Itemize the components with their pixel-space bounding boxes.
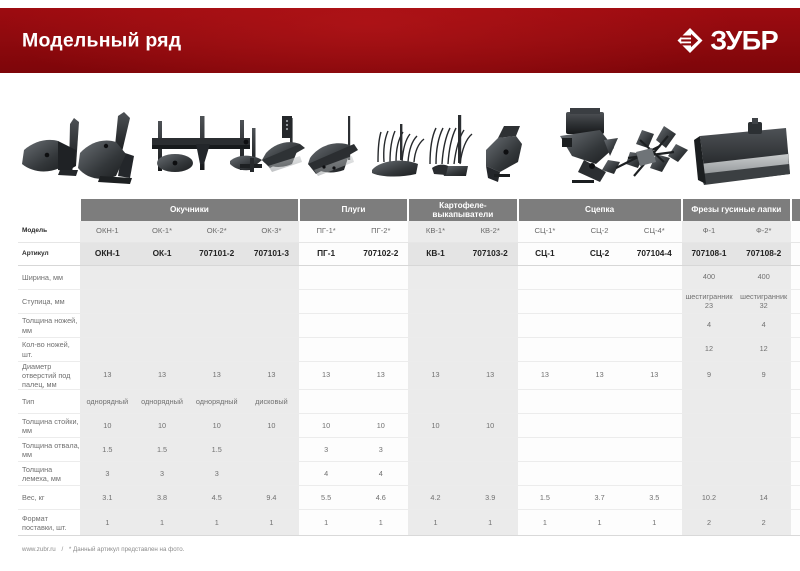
data-cell: 3 (135, 462, 190, 486)
photo-okuchnik-okn-1 (22, 118, 79, 176)
data-cell (408, 390, 463, 414)
data-cell (463, 462, 518, 486)
data-cell (791, 462, 800, 486)
data-cell (736, 462, 791, 486)
table-row: Толщина отвала, мм1.51.51.5332 (18, 438, 800, 462)
group-header-6: Лопата-отвал (791, 199, 800, 221)
data-cell: 1 (518, 510, 573, 536)
data-cell (627, 438, 682, 462)
row-label: Тип (18, 390, 80, 414)
data-cell: 13 (189, 362, 244, 390)
data-cell: 13 (627, 362, 682, 390)
data-cell: 9 (682, 362, 737, 390)
data-cell: 1 (408, 510, 463, 536)
table-row: Ступица, ммшестигранник 23шестигранник 3… (18, 290, 800, 314)
group-header-row: ОкучникиПлугиКартофеле-выкапывателиСцепк… (18, 199, 800, 221)
row-label: Ступица, мм (18, 290, 80, 314)
article-cell: СЦ-1 (518, 243, 573, 266)
data-cell (408, 462, 463, 486)
data-cell: однорядный (135, 390, 190, 414)
data-cell (572, 462, 627, 486)
data-cell: 5.5 (299, 486, 354, 510)
data-cell: 3.7 (572, 486, 627, 510)
data-cell (736, 414, 791, 438)
data-cell (135, 338, 190, 362)
model-cell: СЦ-2 (572, 221, 627, 243)
table-row: Кол-во ножей, шт.1212 (18, 338, 800, 362)
model-cell: КВ-2* (463, 221, 518, 243)
data-cell (518, 266, 573, 290)
group-header-1: Окучники (80, 199, 299, 221)
data-cell: 13 (572, 362, 627, 390)
data-cell: 13 (80, 362, 135, 390)
footer: www.zubr.ru / * Данный артикул представл… (22, 546, 184, 553)
data-cell (408, 314, 463, 338)
data-cell (189, 266, 244, 290)
article-row: Артикул ОКН-1ОК-1707101-2707101-3ПГ-1707… (18, 243, 800, 266)
data-cell (518, 338, 573, 362)
data-cell: 3.9 (463, 486, 518, 510)
data-cell: 1 (244, 510, 299, 536)
data-cell (189, 338, 244, 362)
data-cell (244, 314, 299, 338)
article-cell: 707108-1 (682, 243, 737, 266)
model-cell: ОКН-1 (80, 221, 135, 243)
data-cell (135, 290, 190, 314)
row-label-article: Артикул (18, 243, 80, 266)
spec-table-body: Ширина, мм4004001000Ступица, ммшестигран… (18, 266, 800, 536)
data-cell: 13 (135, 362, 190, 390)
data-cell (572, 414, 627, 438)
model-cell: ОК-2* (189, 221, 244, 243)
data-cell: 1 (189, 510, 244, 536)
article-cell: 707102-2 (353, 243, 408, 266)
data-cell (135, 314, 190, 338)
data-cell (518, 314, 573, 338)
article-cell: 707103-2 (463, 243, 518, 266)
photo-plug-pg-1 (262, 116, 305, 172)
data-cell (682, 438, 737, 462)
data-cell: 10 (299, 414, 354, 438)
footer-note: * Данный артикул представлен на фото. (69, 546, 185, 553)
data-cell: однорядный (189, 390, 244, 414)
row-label: Ширина, мм (18, 266, 80, 290)
row-label: Толщина лемеха, мм (18, 462, 80, 486)
zubr-arrow-diamond-icon (677, 28, 703, 54)
article-cell: ОК-1 (135, 243, 190, 266)
data-cell (791, 290, 800, 314)
article-cell: СЦ-2 (572, 243, 627, 266)
data-cell (299, 266, 354, 290)
data-cell: 13 (244, 362, 299, 390)
data-cell (627, 314, 682, 338)
article-cell: 707101-2 (189, 243, 244, 266)
data-cell: 1 (353, 510, 408, 536)
data-cell: 10.2 (682, 486, 737, 510)
article-cell: 707108-2 (736, 243, 791, 266)
model-cell: ОК-3* (244, 221, 299, 243)
data-cell: 1 (572, 510, 627, 536)
data-cell (627, 390, 682, 414)
article-cell: 707101-3 (244, 243, 299, 266)
row-label: Толщина отвала, мм (18, 438, 80, 462)
data-cell: 3.5 (627, 486, 682, 510)
table-row: Типоднорядныйоднорядныйоднорядныйдисковы… (18, 390, 800, 414)
data-cell: 9.4 (244, 486, 299, 510)
photo-lopata-otval (694, 118, 790, 185)
data-cell: 4 (682, 314, 737, 338)
page-title: Модельный ряд (22, 29, 181, 52)
table-row: Диаметр отверстий под палец, мм131313131… (18, 362, 800, 390)
table-row: Толщина лемеха, мм33344 (18, 462, 800, 486)
header-banner: Модельный ряд ЗУБР (0, 8, 800, 73)
data-cell (353, 390, 408, 414)
data-cell (299, 390, 354, 414)
data-cell: 1 (80, 510, 135, 536)
data-cell: однорядный (80, 390, 135, 414)
data-cell (736, 390, 791, 414)
data-cell (244, 462, 299, 486)
data-cell: 13 (518, 362, 573, 390)
data-cell: 3 (299, 438, 354, 462)
data-cell: 4.6 (353, 486, 408, 510)
model-cell: Ф-1 (682, 221, 737, 243)
model-cell: ОК-1* (135, 221, 190, 243)
article-cell: КВ-1 (408, 243, 463, 266)
data-cell: 1.5 (80, 438, 135, 462)
data-cell (682, 390, 737, 414)
data-cell: 1 (791, 510, 800, 536)
data-cell: 10 (463, 414, 518, 438)
data-cell: 4 (791, 314, 800, 338)
group-header-3: Картофеле-выкапыватели (408, 199, 517, 221)
data-cell (299, 338, 354, 362)
data-cell (408, 438, 463, 462)
row-label: Кол-во ножей, шт. (18, 338, 80, 362)
model-row: Модель ОКН-1ОК-1*ОК-2*ОК-3*ПГ-1*ПГ-2*КВ-… (18, 221, 800, 243)
data-cell (518, 390, 573, 414)
data-cell: 3 (189, 462, 244, 486)
data-cell: 4 (299, 462, 354, 486)
article-cell: 707109-1 (791, 243, 800, 266)
data-cell: 4 (353, 462, 408, 486)
photo-okuchnik-ok-3 (230, 128, 262, 172)
row-label: Толщина стойки, мм (18, 414, 80, 438)
data-cell (463, 266, 518, 290)
data-cell: дисковый (244, 390, 299, 414)
table-row: Формат поставки, шт.11111111111221 (18, 510, 800, 536)
table-row: Толщина ножей, мм444 (18, 314, 800, 338)
data-cell: 13.45 (791, 486, 800, 510)
spec-table: ОкучникиПлугиКартофеле-выкапывателиСцепк… (18, 199, 800, 536)
data-cell (244, 290, 299, 314)
data-cell (736, 438, 791, 462)
data-cell (518, 438, 573, 462)
data-cell (572, 338, 627, 362)
data-cell: 10 (135, 414, 190, 438)
footer-separator: / (61, 546, 63, 553)
data-cell (80, 266, 135, 290)
data-cell: 3 (80, 462, 135, 486)
data-cell (627, 338, 682, 362)
photo-frezy-gusinye-lapki (602, 126, 688, 176)
data-cell: 4.2 (408, 486, 463, 510)
data-cell (627, 266, 682, 290)
data-cell: 400 (736, 266, 791, 290)
data-cell (189, 290, 244, 314)
group-header-4: Сцепка (518, 199, 682, 221)
footer-site[interactable]: www.zubr.ru (22, 546, 56, 553)
data-cell: 3.1 (80, 486, 135, 510)
model-range-datasheet: Модельный ряд ЗУБР (0, 0, 800, 571)
data-cell (572, 438, 627, 462)
data-cell (408, 266, 463, 290)
data-cell: 13 (353, 362, 408, 390)
data-cell: 10 (791, 362, 800, 390)
data-cell: 14 (736, 486, 791, 510)
data-cell (518, 462, 573, 486)
data-cell (244, 338, 299, 362)
data-cell: 2 (736, 510, 791, 536)
data-cell (518, 414, 573, 438)
row-label: Толщина ножей, мм (18, 314, 80, 338)
data-cell: 10 (244, 414, 299, 438)
data-cell: 3 (353, 438, 408, 462)
data-cell (463, 290, 518, 314)
model-cell: Л-1* (791, 221, 800, 243)
model-cell: КВ-1* (408, 221, 463, 243)
data-cell: 12 (736, 338, 791, 362)
model-cell: Ф-2* (736, 221, 791, 243)
data-cell: 13 (463, 362, 518, 390)
data-cell: 2 (791, 438, 800, 462)
data-cell (791, 390, 800, 414)
data-cell: 1 (299, 510, 354, 536)
group-header-5: Фрезы гусиные лапки (682, 199, 791, 221)
data-cell (463, 390, 518, 414)
data-cell: 1000 (791, 266, 800, 290)
data-cell (572, 266, 627, 290)
photo-kartofelekopatel-kv-1 (372, 124, 424, 177)
data-cell: 10 (80, 414, 135, 438)
model-cell: СЦ-1* (518, 221, 573, 243)
model-cell: ПГ-1* (299, 221, 354, 243)
model-cell: СЦ-4* (627, 221, 682, 243)
data-cell: 400 (682, 266, 737, 290)
photo-scepka-sc-1 (486, 126, 522, 182)
photo-plug-pg-2 (308, 116, 358, 176)
data-cell: 10 (408, 414, 463, 438)
row-label: Формат поставки, шт. (18, 510, 80, 536)
brand-logo: ЗУБР (677, 27, 778, 54)
data-cell (408, 290, 463, 314)
group-header-spacer (18, 199, 80, 221)
data-cell (353, 266, 408, 290)
data-cell (135, 266, 190, 290)
data-cell (572, 314, 627, 338)
data-cell: 12 (682, 338, 737, 362)
photo-okuchnik-ok-1 (78, 112, 134, 184)
data-cell (791, 338, 800, 362)
data-cell (518, 290, 573, 314)
data-cell: 4 (736, 314, 791, 338)
data-cell (353, 338, 408, 362)
data-cell (80, 338, 135, 362)
table-row: Ширина, мм4004001000 (18, 266, 800, 290)
row-label: Вес, кг (18, 486, 80, 510)
data-cell: 1 (135, 510, 190, 536)
data-cell: 3 (791, 414, 800, 438)
data-cell: 13 (299, 362, 354, 390)
data-cell: шестигранник 32 (736, 290, 791, 314)
data-cell (244, 266, 299, 290)
data-cell: шестигранник 23 (682, 290, 737, 314)
data-cell: 9 (736, 362, 791, 390)
data-cell: 10 (189, 414, 244, 438)
data-cell (463, 438, 518, 462)
data-cell: 1 (627, 510, 682, 536)
data-cell (627, 414, 682, 438)
data-cell: 13 (408, 362, 463, 390)
article-cell: 707104-4 (627, 243, 682, 266)
data-cell (408, 338, 463, 362)
data-cell (80, 290, 135, 314)
article-cell: ОКН-1 (80, 243, 135, 266)
data-cell (463, 338, 518, 362)
photo-scepka-sc-2 (560, 108, 614, 183)
photo-kartofelekopatel-kv-2 (430, 115, 472, 176)
row-label-model: Модель (18, 221, 80, 243)
table-row: Толщина стойки, мм10101010101010103 (18, 414, 800, 438)
data-cell (299, 290, 354, 314)
data-cell (572, 390, 627, 414)
row-label: Диаметр отверстий под палец, мм (18, 362, 80, 390)
product-lineup-photo (0, 78, 800, 196)
data-cell: 4.5 (189, 486, 244, 510)
data-cell (627, 462, 682, 486)
article-cell: ПГ-1 (299, 243, 354, 266)
data-cell: 1.5 (189, 438, 244, 462)
data-cell: 1.5 (135, 438, 190, 462)
data-cell (572, 290, 627, 314)
data-cell (353, 314, 408, 338)
data-cell: 3.8 (135, 486, 190, 510)
brand-wordmark: ЗУБР (710, 27, 778, 54)
table-row: Вес, кг3.13.84.59.45.54.64.23.91.53.73.5… (18, 486, 800, 510)
group-header-2: Плуги (299, 199, 408, 221)
data-cell (189, 314, 244, 338)
data-cell: 1.5 (518, 486, 573, 510)
data-cell (299, 314, 354, 338)
data-cell (80, 314, 135, 338)
spec-table-wrapper: ОкучникиПлугиКартофеле-выкапывателиСцепк… (18, 199, 782, 536)
data-cell (353, 290, 408, 314)
data-cell: 10 (353, 414, 408, 438)
data-cell (682, 462, 737, 486)
data-cell: 1 (463, 510, 518, 536)
model-cell: ПГ-2* (353, 221, 408, 243)
data-cell (682, 414, 737, 438)
data-cell (463, 314, 518, 338)
data-cell: 2 (682, 510, 737, 536)
data-cell (244, 438, 299, 462)
data-cell (627, 290, 682, 314)
